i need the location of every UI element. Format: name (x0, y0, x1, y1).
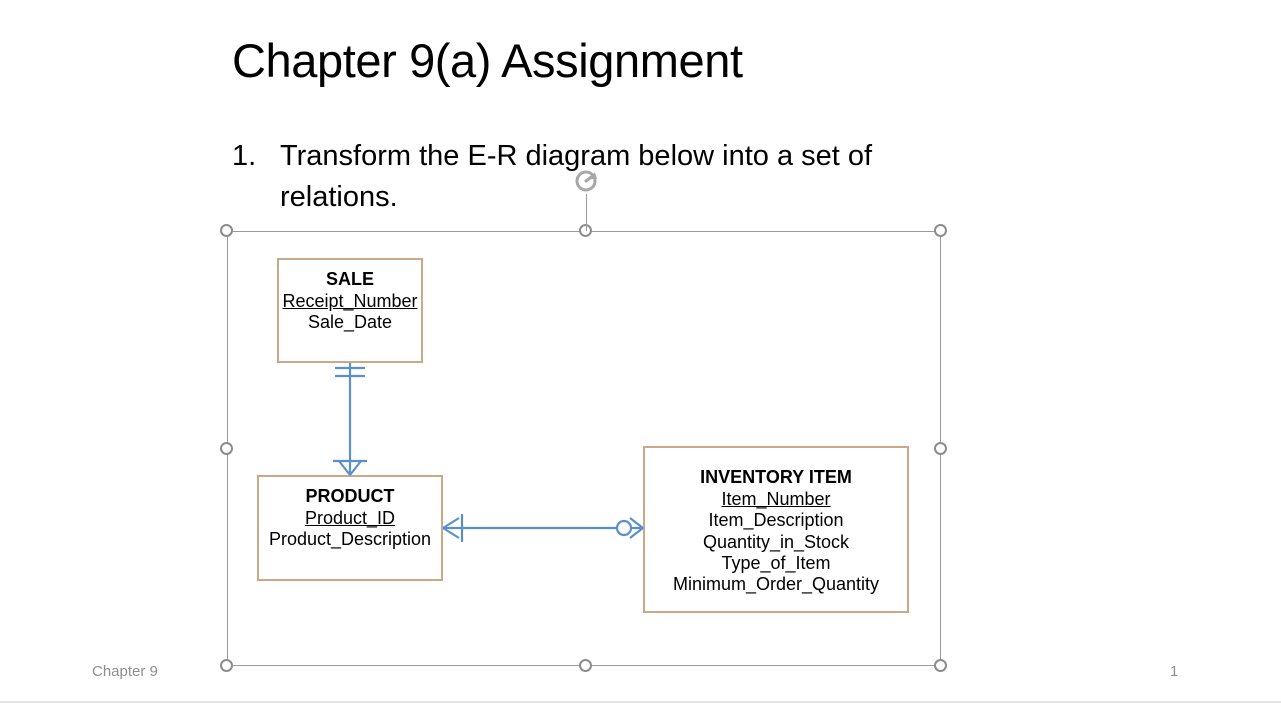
entity-attribute: Product_Description (259, 529, 441, 550)
list-item: 1. Transform the E-R diagram below into … (232, 136, 992, 218)
entity-attribute: Type_of_Item (645, 553, 907, 574)
entity-attribute: Minimum_Order_Quantity (645, 574, 907, 595)
page-title: Chapter 9(a) Assignment (232, 34, 1132, 88)
entity-box-product[interactable]: PRODUCT Product_ID Product_Description (257, 475, 443, 581)
entity-name: PRODUCT (259, 485, 441, 508)
slide-footer: Chapter 9 (92, 663, 158, 680)
slide-number: 1 (1170, 663, 1178, 680)
handle-middle-left[interactable] (220, 442, 233, 455)
crowsfoot-prong-right (350, 461, 361, 475)
list-item-text: Transform the E-R diagram below into a s… (280, 136, 992, 218)
handle-bottom-left[interactable] (220, 659, 233, 672)
entity-name: SALE (279, 268, 421, 291)
bottom-divider (0, 701, 1281, 703)
crowsfoot-prong-lower-right (630, 528, 643, 538)
handle-top-left[interactable] (220, 224, 233, 237)
body-placeholder[interactable]: 1. Transform the E-R diagram below into … (232, 136, 992, 218)
rotate-handle-stem (586, 194, 587, 231)
entity-attribute: Sale_Date (279, 312, 421, 333)
er-connector-layer (0, 0, 1281, 700)
entity-box-inventory-item[interactable]: INVENTORY ITEM Item_Number Item_Descript… (643, 446, 909, 613)
handle-bottom-right[interactable] (934, 659, 947, 672)
crowsfoot-prong-left (339, 461, 350, 475)
handle-bottom-center[interactable] (579, 659, 592, 672)
crowsfoot-prong-upper-left (443, 518, 459, 528)
crowsfoot-prong-upper-right (630, 518, 643, 528)
list-item-number: 1. (232, 136, 280, 177)
entity-box-sale[interactable]: SALE Receipt_Number Sale_Date (277, 258, 423, 363)
entity-attribute: Item_Description (645, 510, 907, 531)
entity-attribute: Quantity_in_Stock (645, 532, 907, 553)
cardinality-optional-circle (617, 521, 631, 535)
entity-name: INVENTORY ITEM (645, 466, 907, 489)
crowsfoot-prong-lower-left (443, 528, 459, 538)
slide-canvas: Chapter 9(a) Assignment 1. Transform the… (0, 0, 1281, 700)
handle-middle-right[interactable] (934, 442, 947, 455)
rotate-icon[interactable] (573, 168, 599, 194)
entity-attribute-key: Product_ID (259, 508, 441, 529)
entity-attribute-key: Receipt_Number (279, 291, 421, 312)
entity-attribute-key: Item_Number (645, 489, 907, 510)
handle-top-right[interactable] (934, 224, 947, 237)
